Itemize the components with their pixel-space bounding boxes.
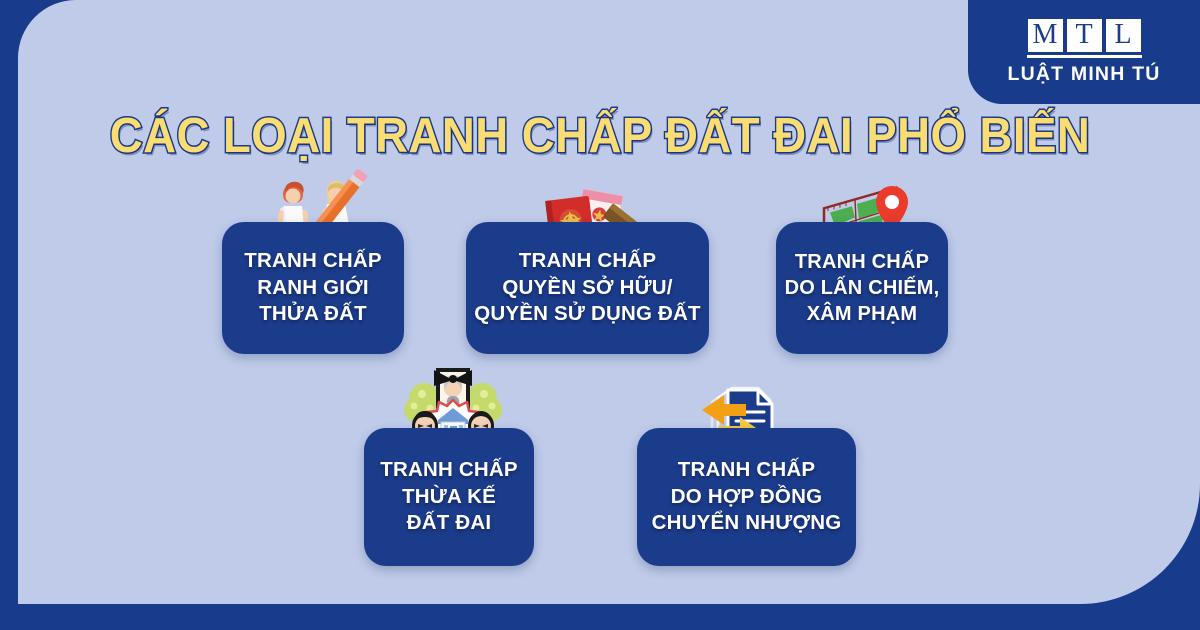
card-line: TRANH CHẤP	[519, 248, 657, 275]
card-quyen-so-huu-su-dung[interactable]: TRANH CHẤP QUYỀN SỞ HỮU/ QUYỀN SỬ DỤNG Đ…	[466, 222, 709, 354]
infographic-canvas: M T L LUẬT MINH TÚ CÁC LOẠI TRANH CHẤP Đ…	[0, 0, 1200, 630]
card-line: THỬA ĐẤT	[259, 301, 367, 328]
card-ranh-gioi-thua-dat[interactable]: TRANH CHẤP RANH GIỚI THỬA ĐẤT	[222, 222, 404, 354]
card-thua-ke-dat-dai[interactable]: TRANH CHẤP THỪA KẾ ĐẤT ĐAI	[364, 428, 534, 566]
logo-letter-l: L	[1106, 19, 1141, 52]
card-line: RANH GIỚI	[257, 275, 369, 302]
logo-company-name: LUẬT MINH TÚ	[1007, 63, 1160, 86]
card-line: TRANH CHẤP	[244, 248, 382, 275]
card-lan-chiem-xam-pham[interactable]: TRANH CHẤP DO LẤN CHIẾM, XÂM PHẠM	[776, 222, 948, 354]
card-line: CHUYỂN NHƯỢNG	[652, 510, 842, 537]
card-line: XÂM PHẠM	[807, 301, 918, 327]
card-line: QUYỀN SỞ HỮU/	[502, 275, 672, 302]
card-line: ĐẤT ĐAI	[407, 510, 492, 537]
card-line: THỪA KẾ	[402, 484, 496, 511]
logo-letter-m: M	[1028, 19, 1063, 52]
logo-mark: M T L	[1027, 19, 1142, 58]
brand-logo: M T L LUẬT MINH TÚ	[968, 0, 1200, 104]
card-hop-dong-chuyen-nhuong[interactable]: TRANH CHẤP DO HỢP ĐỒNG CHUYỂN NHƯỢNG	[637, 428, 856, 566]
card-line: TRANH CHẤP	[795, 249, 929, 275]
logo-letter-t: T	[1067, 19, 1102, 52]
logo-letter-boxes: M T L	[1028, 19, 1141, 52]
card-line: TRANH CHẤP	[678, 457, 816, 484]
card-line: DO HỢP ĐỒNG	[671, 484, 822, 511]
logo-underline	[1027, 55, 1142, 58]
card-line: DO LẤN CHIẾM,	[785, 275, 940, 301]
card-line: TRANH CHẤP	[380, 457, 518, 484]
card-line: QUYỀN SỬ DỤNG ĐẤT	[474, 301, 701, 328]
page-title: CÁC LOẠI TRANH CHẤP ĐẤT ĐAI PHỔ BIẾN	[42, 108, 1158, 164]
